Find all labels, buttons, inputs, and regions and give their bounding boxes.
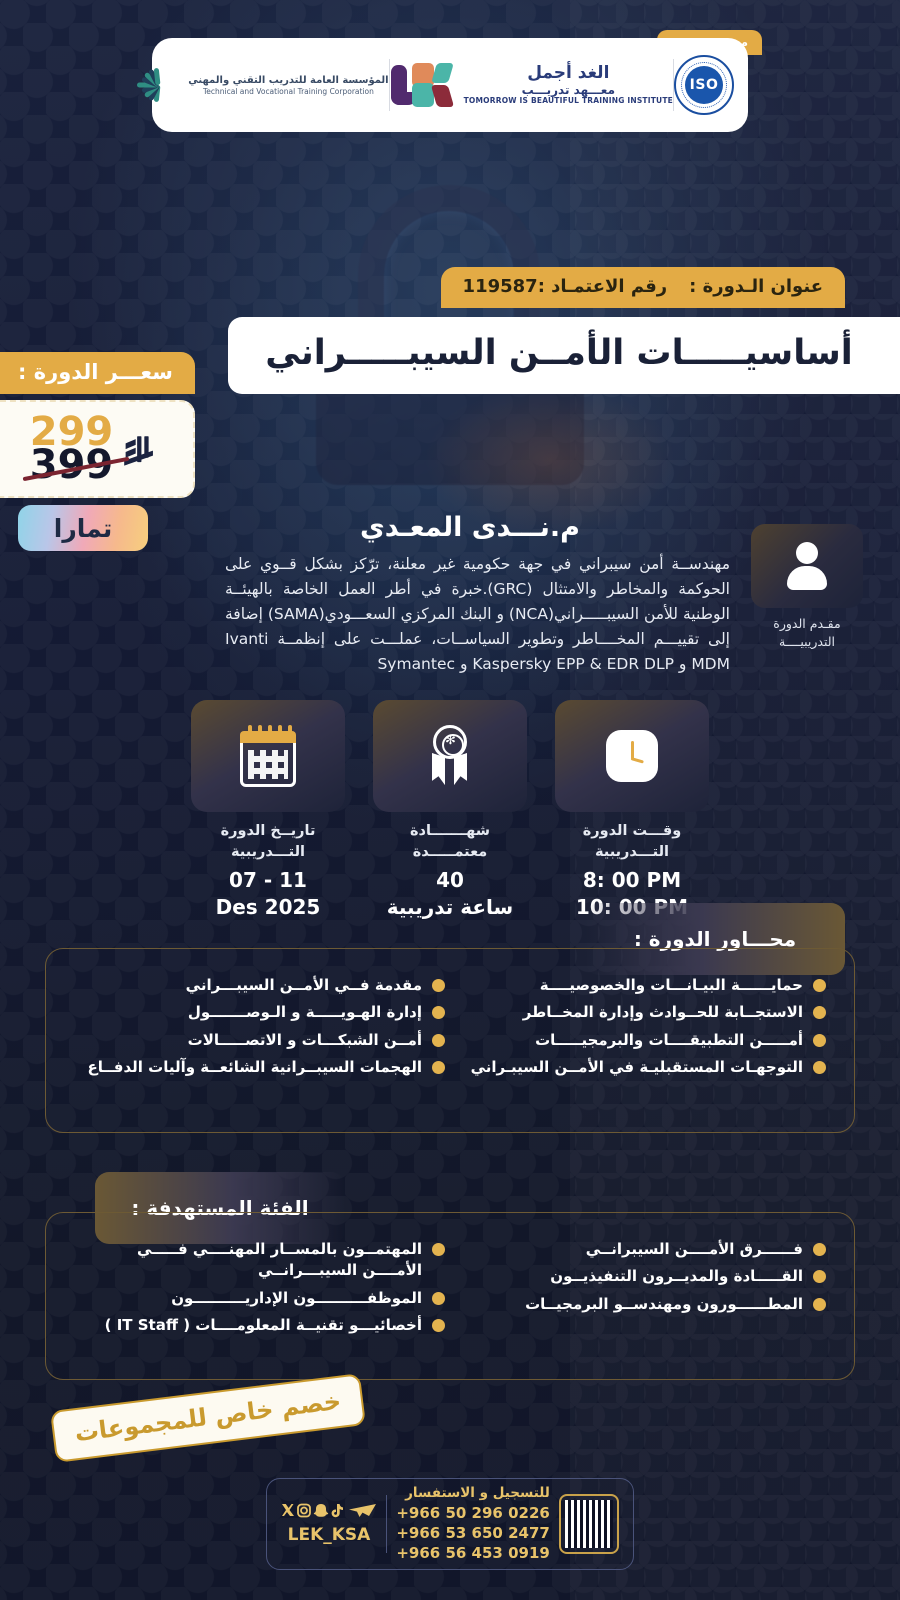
topic-item: الهجمات السيبــرانية الشائعــة وآليات ال… bbox=[74, 1057, 445, 1078]
hours-count: 40 bbox=[373, 867, 527, 893]
original-price: 399 bbox=[30, 447, 114, 484]
contact-caption: للتسجيل و الاستفسار bbox=[396, 1484, 549, 1502]
page-title: أساسيـــــات الأمــن السيبـــــراني bbox=[258, 332, 860, 375]
bullet-dot-icon bbox=[432, 1034, 445, 1047]
tvtc-logo: المؤسسة العامة للتدريب التقني والمهني Te… bbox=[138, 63, 388, 107]
course-title-label: عنوان الـدورة : bbox=[689, 276, 823, 297]
topic-item-label: حمايــــــة البيـانـــات والخصوصيــــة bbox=[455, 975, 803, 996]
instructor-card: مقـدم الدورة التدريبيــــة bbox=[746, 524, 868, 651]
topic-item: إدارة الهـويـــــة و الـوصـــــــول bbox=[74, 1002, 445, 1023]
contact-footer: للتسجيل و الاستفسار +966 50 296 0226 +96… bbox=[266, 1478, 634, 1570]
date-month-year: Des 2025 bbox=[191, 894, 345, 920]
topic-item-label: مقدمة فــي الأمــن السيبـــراني bbox=[74, 975, 422, 996]
medal-icon bbox=[373, 700, 527, 812]
instructor-role-caption: مقـدم الدورة التدريبيــــة bbox=[746, 615, 868, 651]
audience-item-label: فــــــرق الأمــــن السيبرانــي bbox=[455, 1239, 803, 1260]
info-card-value: 07 - 11 Des 2025 bbox=[191, 867, 345, 920]
bullet-dot-icon bbox=[432, 979, 445, 992]
info-card-certificate: شهـــــــادة معتمـــــدة 40 ساعة تدريبية bbox=[373, 700, 527, 920]
audience-column-left: فــــــرق الأمــــن السيبرانــيالقـــــا… bbox=[455, 1239, 826, 1359]
topic-item: مقدمة فــي الأمــن السيبـــراني bbox=[74, 975, 445, 996]
poster-canvas: معتمدة مــن : ISO الغد أجمل معـــهد تدري… bbox=[0, 0, 900, 1600]
audience-item: المطــــــورون ومهندســو البرمجيــات bbox=[455, 1294, 826, 1315]
info-card-title: وقـــت الدورة التـــدريبية bbox=[555, 821, 709, 862]
phone-number[interactable]: +966 53 650 2477 bbox=[396, 1523, 549, 1543]
iso-label: ISO bbox=[685, 66, 723, 104]
bullet-dot-icon bbox=[432, 1292, 445, 1305]
calendar-icon bbox=[191, 700, 345, 812]
iso-seal-icon: ISO bbox=[674, 55, 734, 115]
time-start: 8: 00 PM bbox=[555, 867, 709, 893]
institute-name-line1: الغد أجمل bbox=[464, 64, 673, 84]
info-card-value: 40 ساعة تدريبية bbox=[373, 867, 527, 920]
institute-name-line2: معـــهد تدريـــب bbox=[464, 84, 673, 98]
bullet-dot-icon bbox=[813, 1061, 826, 1074]
tvtc-name-ar: المؤسسة العامة للتدريب التقني والمهني bbox=[188, 74, 388, 87]
phone-number[interactable]: +966 50 296 0226 bbox=[396, 1503, 549, 1523]
bullet-dot-icon bbox=[813, 1034, 826, 1047]
date-days: 07 - 11 bbox=[191, 867, 345, 893]
topic-item: أمـــــن التطبيقــــات والبرمجيـــــات bbox=[455, 1030, 826, 1051]
info-card-title: تاريــخ الدورة التـــدريبية bbox=[191, 821, 345, 862]
person-icon bbox=[751, 524, 863, 608]
institute-name-en: TOMORROW IS BEAUTIFUL TRAINING INSTITUTE bbox=[464, 97, 673, 106]
audience-item-label: المهتمــون بالمســار المهنــــي فـــــي … bbox=[74, 1239, 422, 1282]
bullet-dot-icon bbox=[432, 1061, 445, 1074]
topics-column-right: مقدمة فــي الأمــن السيبـــرانيإدارة اله… bbox=[74, 975, 445, 1112]
audience-panel: فــــــرق الأمــــن السيبرانــيالقـــــا… bbox=[45, 1212, 855, 1380]
topic-item: الاستجــابة للحــوادث وإدارة المخــاطر bbox=[455, 1002, 826, 1023]
price-label: سعـــر الدورة : bbox=[0, 352, 195, 394]
audience-item: الموظفــــــــــون الإداريــــــــــون bbox=[74, 1288, 445, 1309]
audience-item: أخصائيـــو تقنيــة المعلومــــات ( IT St… bbox=[74, 1315, 445, 1336]
social-icons-row[interactable] bbox=[281, 1503, 377, 1522]
bullet-dot-icon bbox=[813, 979, 826, 992]
qr-code-icon[interactable] bbox=[559, 1494, 619, 1554]
audience-item-label: أخصائيـــو تقنيــة المعلومــــات ( IT St… bbox=[74, 1315, 422, 1336]
social-handle[interactable]: LEK_KSA bbox=[281, 1525, 377, 1545]
contact-block: للتسجيل و الاستفسار +966 50 296 0226 +96… bbox=[396, 1484, 549, 1564]
info-card-title: شهـــــــادة معتمـــــدة bbox=[373, 821, 527, 862]
divider bbox=[386, 1495, 387, 1553]
bullet-dot-icon bbox=[432, 1243, 445, 1256]
course-title-band: أساسيـــــات الأمــن السيبـــــراني bbox=[228, 317, 900, 394]
audience-item: المهتمــون بالمســار المهنــــي فـــــي … bbox=[74, 1239, 445, 1282]
certification-bar: ISO الغد أجمل معـــهد تدريـــب TOMORROW … bbox=[152, 38, 748, 132]
topic-item-label: التوجهـات المستقبليـة في الأمــن السيبـر… bbox=[455, 1057, 803, 1078]
instructor-bio: مهندســة أمن سيبراني في جهة حكومية غير م… bbox=[225, 552, 730, 678]
audience-item: القـــــادة والمديــرون التنفيذيــون bbox=[455, 1266, 826, 1287]
topic-item-label: أمـــــن التطبيقــــات والبرمجيـــــات bbox=[455, 1030, 803, 1051]
accreditation-strip: عنوان الـدورة : رقم الاعتمـاد :119587 bbox=[441, 267, 845, 308]
instructor-name: م.نـــدى المعـدي bbox=[210, 512, 730, 543]
topics-column-left: حمايــــــة البيـانـــات والخصوصيــــةال… bbox=[455, 975, 826, 1112]
audience-item-label: القـــــادة والمديــرون التنفيذيــون bbox=[455, 1266, 803, 1287]
training-institute-logo: الغد أجمل معـــهد تدريـــب TOMORROW IS B… bbox=[390, 61, 673, 109]
topic-item: التوجهـات المستقبليـة في الأمــن السيبـر… bbox=[455, 1057, 826, 1078]
topic-item-label: الاستجــابة للحــوادث وإدارة المخــاطر bbox=[455, 1002, 803, 1023]
price-box: 299 399 bbox=[0, 400, 195, 498]
audience-item-label: المطــــــورون ومهندســو البرمجيــات bbox=[455, 1294, 803, 1315]
bullet-dot-icon bbox=[432, 1319, 445, 1332]
topic-item: أمــن الشبكـــات و الاتصـــــالات bbox=[74, 1030, 445, 1051]
audience-item-label: الموظفــــــــــون الإداريــــــــــون bbox=[74, 1288, 422, 1309]
saudi-riyal-icon bbox=[117, 429, 163, 475]
topic-item-label: أمــن الشبكـــات و الاتصـــــالات bbox=[74, 1030, 422, 1051]
bullet-dot-icon bbox=[432, 1006, 445, 1019]
topic-item-label: إدارة الهـويـــــة و الـوصـــــــول bbox=[74, 1002, 422, 1023]
topic-item-label: الهجمات السيبــرانية الشائعــة وآليات ال… bbox=[74, 1057, 422, 1078]
social-glyphs bbox=[281, 1503, 377, 1518]
hours-unit: ساعة تدريبية bbox=[373, 894, 527, 920]
social-block: LEK_KSA bbox=[281, 1503, 377, 1545]
tvtc-name-en: Technical and Vocational Training Corpor… bbox=[188, 87, 388, 97]
clock-icon bbox=[555, 700, 709, 812]
tamara-payment-badge: تمارا bbox=[18, 505, 148, 551]
topic-item: حمايــــــة البيـانـــات والخصوصيــــة bbox=[455, 975, 826, 996]
tamara-label: تمارا bbox=[54, 514, 113, 543]
info-cards-row: وقـــت الدورة التـــدريبية 8: 00 PM 10: … bbox=[0, 700, 900, 920]
bullet-dot-icon bbox=[813, 1270, 826, 1283]
topics-panel: حمايــــــة البيـانـــات والخصوصيــــةال… bbox=[45, 948, 855, 1133]
phone-number[interactable]: +966 56 453 0919 bbox=[396, 1543, 549, 1563]
info-card-time: وقـــت الدورة التـــدريبية 8: 00 PM 10: … bbox=[555, 700, 709, 920]
accreditation-number: رقم الاعتمـاد :119587 bbox=[463, 276, 668, 297]
bullet-dot-icon bbox=[813, 1006, 826, 1019]
audience-column-right: المهتمــون بالمســار المهنــــي فـــــي … bbox=[74, 1239, 445, 1359]
tvtc-palm-icon bbox=[138, 63, 178, 107]
bullet-dot-icon bbox=[813, 1298, 826, 1311]
audience-item: فــــــرق الأمــــن السيبرانــي bbox=[455, 1239, 826, 1260]
lek-mark-icon bbox=[390, 61, 456, 109]
bullet-dot-icon bbox=[813, 1243, 826, 1256]
info-card-date: تاريــخ الدورة التـــدريبية 07 - 11 Des … bbox=[191, 700, 345, 920]
